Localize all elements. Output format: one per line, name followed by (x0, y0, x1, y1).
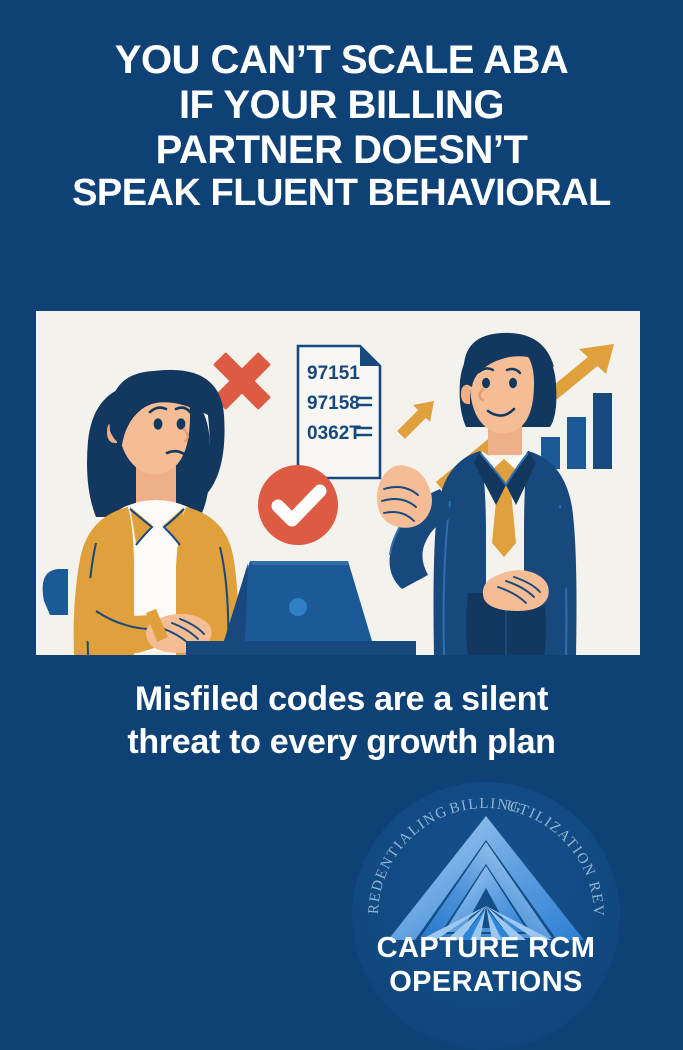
logo-graphic: BILLING CREDENTIALING UTILIZATION REVIEW (352, 782, 620, 1050)
illustration-graphic: 97151 97158 0362T (36, 311, 640, 655)
poster-canvas: YOU CAN’T SCALE ABA IF YOUR BILLING PART… (0, 0, 683, 1024)
headline-line-1: YOU CAN’T SCALE ABA (0, 38, 683, 83)
logo-name-line-1: CAPTURE RCM (352, 932, 620, 964)
page-title: YOU CAN’T SCALE ABA IF YOUR BILLING PART… (0, 38, 683, 215)
cpt-code-document: 97151 97158 0362T (298, 346, 380, 478)
headline-line-2: IF YOUR BILLING (0, 83, 683, 128)
caption-line-2: threat to every growth plan (0, 721, 683, 764)
cpt-code-2: 97158 (307, 393, 360, 414)
cpt-code-1: 97151 (307, 363, 360, 384)
caption-line-1: Misfiled codes are a silent (0, 678, 683, 721)
brand-logo: BILLING CREDENTIALING UTILIZATION REVIEW… (352, 782, 620, 1050)
logo-name-line-2: OPERATIONS (352, 966, 620, 998)
headline-line-4: SPEAK FLUENT BEHAVIORAL (0, 172, 683, 215)
illustration-panel: 97151 97158 0362T (36, 311, 640, 655)
subtitle-caption: Misfiled codes are a silent threat to ev… (0, 678, 683, 763)
headline-line-3: PARTNER DOESN’T (0, 128, 683, 173)
cpt-code-3: 0362T (307, 423, 361, 444)
check-circle-icon (258, 465, 338, 545)
